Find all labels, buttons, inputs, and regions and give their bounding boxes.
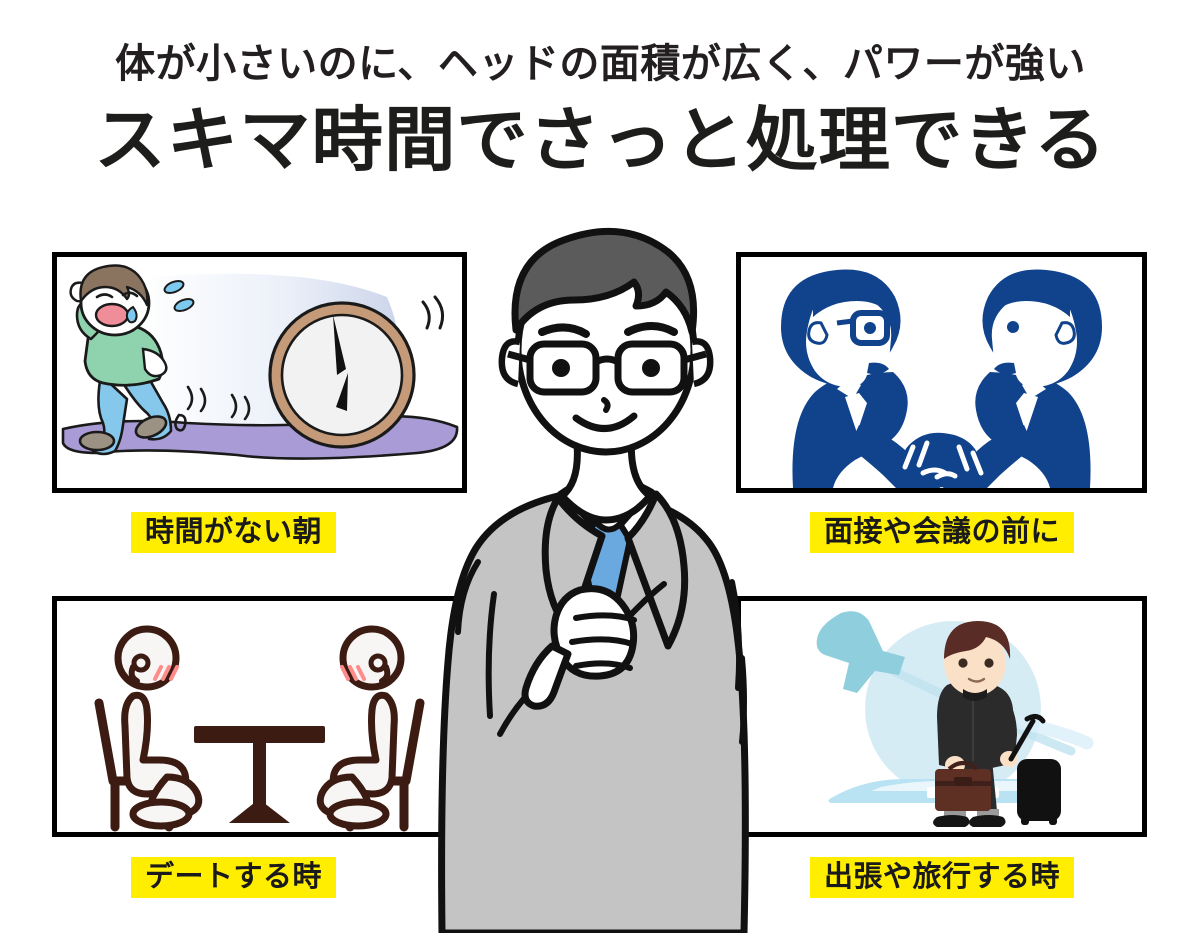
caption-morning: 時間がない朝 xyxy=(131,512,336,553)
center-businessman xyxy=(390,222,820,933)
illustration-businessman-adjusting-tie xyxy=(390,222,820,933)
caption-date: デートする時 xyxy=(131,857,336,898)
caption-interview: 面接や会議の前に xyxy=(810,512,1074,553)
page-title: スキマ時間でさっと処理できる xyxy=(0,104,1201,178)
subtitle-text: 体が小さいのに、ヘッドの面積が広く、パワーが強い xyxy=(0,44,1201,84)
poster-canvas: 体が小さいのに、ヘッドの面積が広く、パワーが強い スキマ時間でさっと処理できる xyxy=(0,0,1201,933)
caption-travel: 出張や旅行する時 xyxy=(810,857,1074,898)
